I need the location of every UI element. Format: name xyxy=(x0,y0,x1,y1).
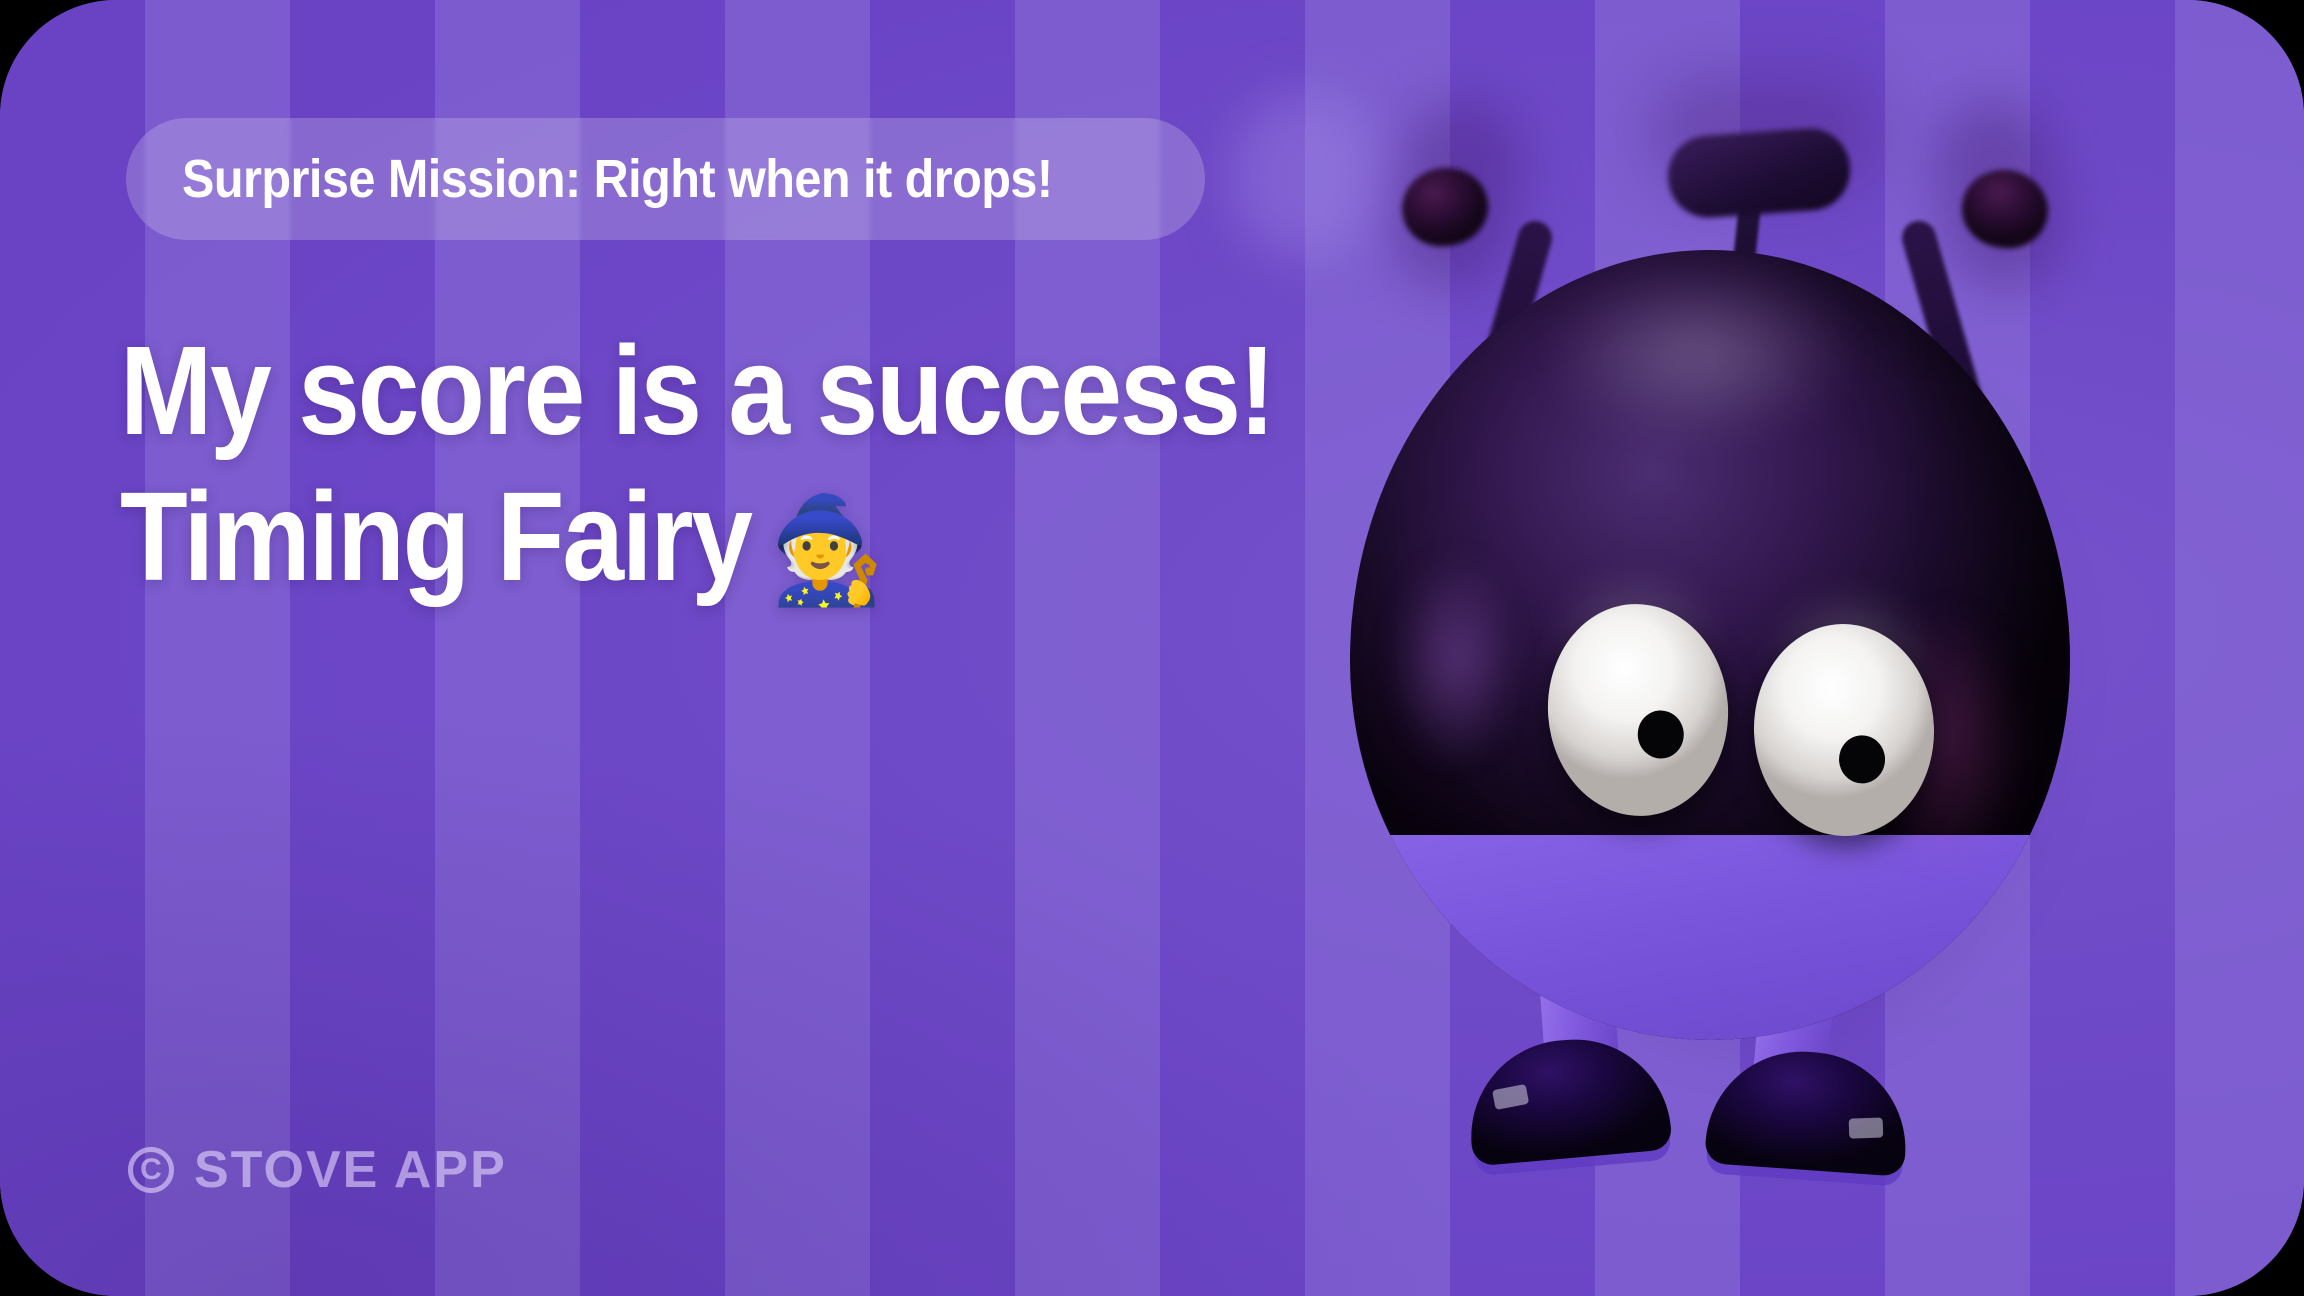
shoe-highlight-right xyxy=(1849,1117,1884,1138)
mascot-top-highlight xyxy=(1490,260,1910,490)
wizard-icon: 🧙 xyxy=(770,489,882,611)
mascot-body xyxy=(1350,250,2070,1040)
mascot-rim-light-left xyxy=(1350,510,1510,810)
headline-block: My score is a success! Timing Fairy🧙 xyxy=(120,318,1300,610)
mascot-pupil-left xyxy=(1636,709,1685,760)
footer-credit: C STOVE APP xyxy=(128,1140,507,1200)
footer-label: STOVE APP xyxy=(194,1140,507,1200)
headline-line-2: Timing Fairy xyxy=(120,466,751,607)
promo-card: Surprise Mission: Right when it drops! M… xyxy=(0,0,2304,1296)
mission-badge-label: Surprise Mission: Right when it drops! xyxy=(182,148,1053,210)
mascot-illustration xyxy=(1290,60,2170,1240)
headline-line-1: My score is a success! xyxy=(120,318,1158,464)
copyright-icon: C xyxy=(128,1147,174,1193)
mascot-pupil-right xyxy=(1838,735,1886,785)
shoe-highlight-left xyxy=(1492,1084,1529,1110)
mascot-antenna-tip xyxy=(1665,126,1852,220)
mission-badge: Surprise Mission: Right when it drops! xyxy=(126,118,1205,240)
headline-line-2-row: Timing Fairy🧙 xyxy=(120,464,1158,610)
text-column: Surprise Mission: Right when it drops! M… xyxy=(0,0,1340,1296)
